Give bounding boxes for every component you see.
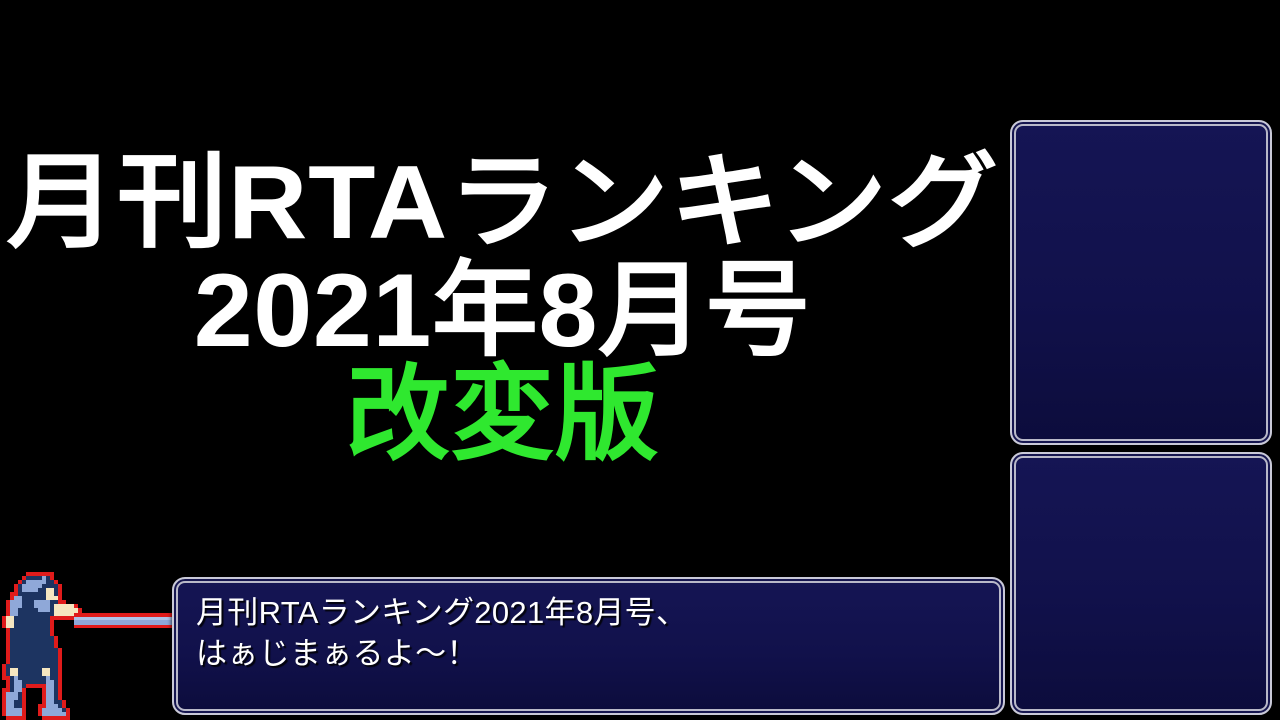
- title-block: 月刊RTAランキング 2021年8月号 改変版: [0, 150, 1005, 468]
- title-line-issue: 2021年8月号: [0, 258, 1015, 364]
- ranking-panel-bottom: [1010, 452, 1272, 715]
- spear-highlight: [74, 617, 174, 620]
- dialogue-text: 月刊RTAランキング2021年8月号、 はぁじまぁるよ〜！: [196, 593, 981, 675]
- video-frame: 月刊RTAランキング 2021年8月号 改変版 月刊RTAランキング2021年8…: [0, 0, 1280, 720]
- title-line-edition: 改変版: [0, 362, 1005, 468]
- pixel-knight-sprite-icon: [2, 572, 90, 720]
- title-line-main: 月刊RTAランキング: [0, 150, 1035, 256]
- spear-icon: [74, 613, 174, 628]
- dialogue-box[interactable]: 月刊RTAランキング2021年8月号、 はぁじまぁるよ〜！: [172, 577, 1005, 715]
- ranking-panel-top: [1010, 120, 1272, 445]
- pixel-knight-canvas: [2, 572, 90, 720]
